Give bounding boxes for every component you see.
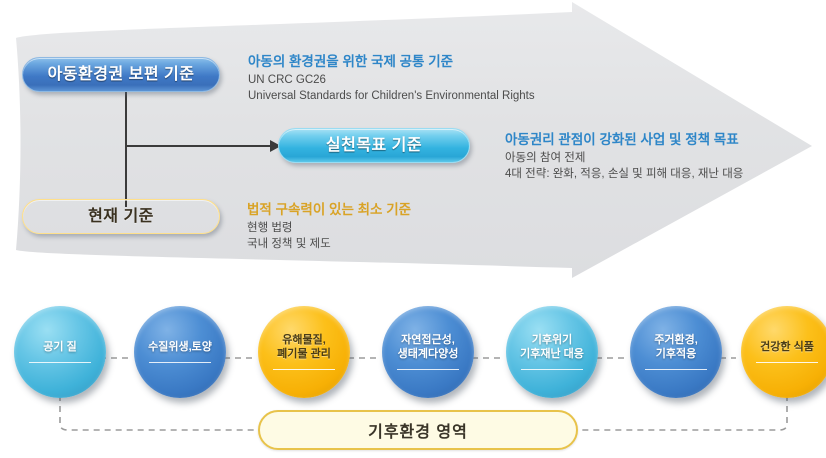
- circle-housing-adaptation[interactable]: 주거환경, 기후적응: [630, 306, 722, 398]
- diagram-canvas: 아동환경권 보편 기준 실천목표 기준 현재 기준 아동의 환경권을 위한 국제…: [0, 0, 826, 458]
- circle-water-soil-line-1: 수질위생,토양: [148, 341, 212, 355]
- circle-housing-adaptation-line-2: 기후적응: [656, 348, 696, 362]
- circle-nature-biodiversity-line-1: 자연접근성,: [401, 334, 455, 348]
- circle-hazard-waste-line-2: 폐기물 관리: [277, 348, 331, 362]
- circle-climate-disaster-line-1: 기후위기: [532, 334, 572, 348]
- banner-label: 기후환경 영역: [368, 418, 468, 442]
- circle-nature-biodiversity[interactable]: 자연접근성, 생태계다양성: [382, 306, 474, 398]
- circle-hazard-waste-line-1: 유해물질,: [282, 334, 326, 348]
- banner-climate-environment-domain[interactable]: 기후환경 영역: [258, 410, 578, 450]
- circle-underline: [149, 362, 211, 363]
- circle-air-quality[interactable]: 공기 질: [14, 306, 106, 398]
- circle-healthy-food[interactable]: 건강한 식품: [741, 306, 826, 398]
- circle-underline: [645, 369, 707, 370]
- circle-air-quality-line-1: 공기 질: [43, 341, 76, 355]
- circle-nature-biodiversity-line-2: 생태계다양성: [398, 348, 459, 362]
- circle-water-soil[interactable]: 수질위생,토양: [134, 306, 226, 398]
- circle-underline: [29, 362, 91, 363]
- circle-underline: [273, 369, 335, 370]
- circle-underline: [521, 369, 583, 370]
- circle-housing-adaptation-line-1: 주거환경,: [654, 334, 698, 348]
- circle-underline: [397, 369, 459, 370]
- circle-underline: [756, 362, 818, 363]
- circle-climate-disaster[interactable]: 기후위기 기후재난 대응: [506, 306, 598, 398]
- circle-climate-disaster-line-2: 기후재난 대응: [520, 348, 584, 362]
- circle-hazard-waste[interactable]: 유해물질, 폐기물 관리: [258, 306, 350, 398]
- circle-healthy-food-line-1: 건강한 식품: [760, 341, 814, 355]
